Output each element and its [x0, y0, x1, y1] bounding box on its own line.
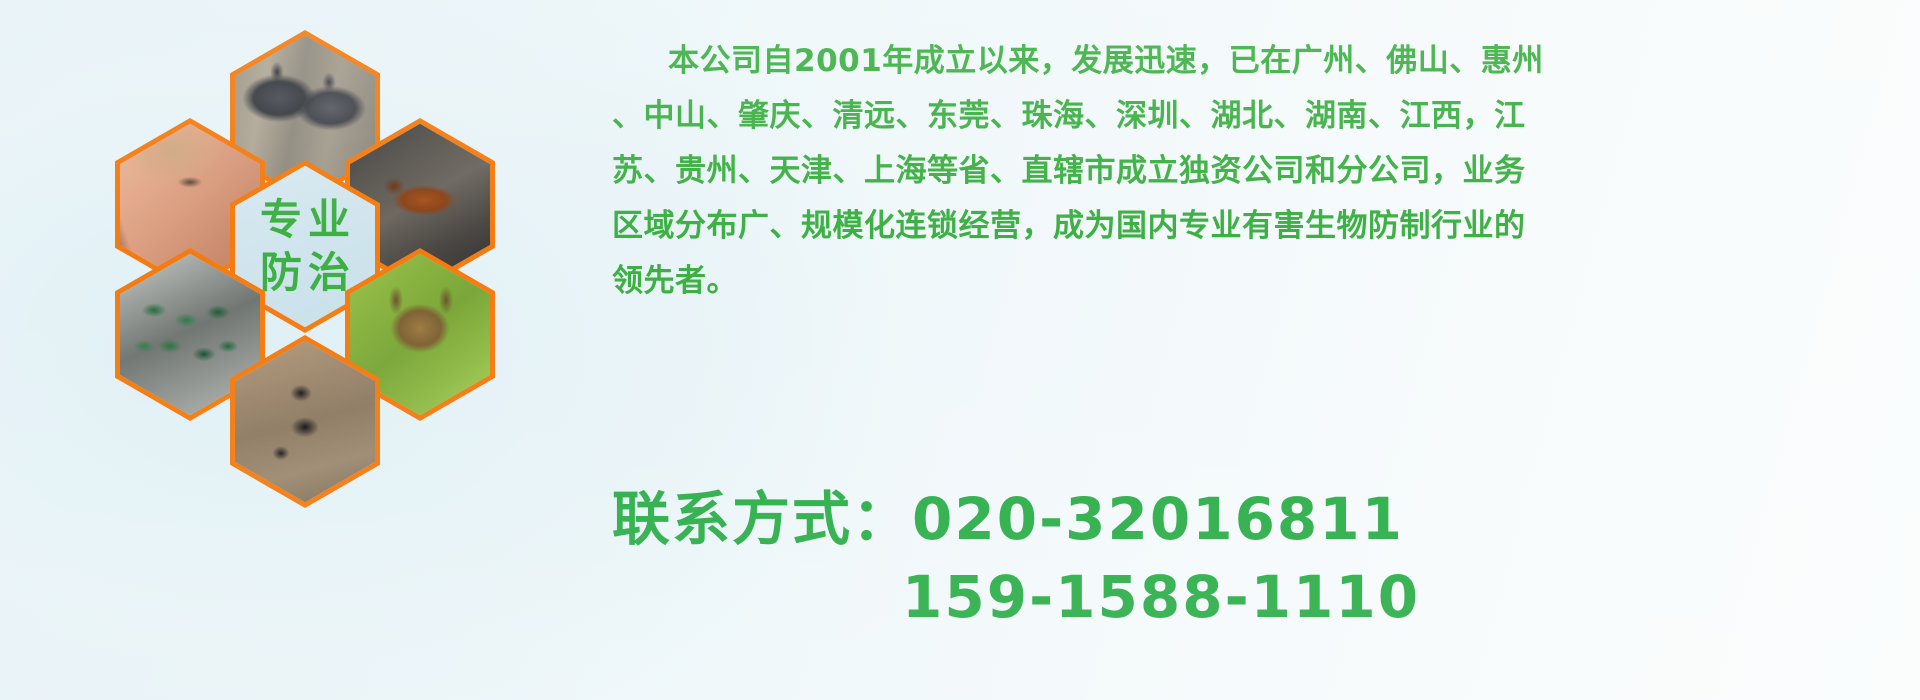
intro-line-3: 苏、贵州、天津、上海等省、直辖市成立独资公司和分公司，业务 — [612, 144, 1902, 199]
brand-line-1: 专业 — [254, 193, 356, 247]
intro-line-4: 区域分布广、规模化连锁经营，成为国内专业有害生物防制行业的 — [612, 199, 1902, 254]
company-intro-paragraph: 本公司自2001年成立以来，发展迅速，已在广州、佛山、惠州 、中山、肇庆、清远、… — [612, 34, 1902, 309]
contact-block: 联系方式：020-32016811 159-1588-1110 — [612, 480, 1902, 636]
ants-photo — [235, 341, 375, 502]
intro-line-1: 本公司自2001年成立以来，发展迅速，已在广州、佛山、惠州 — [612, 34, 1902, 89]
promo-banner: 专业 防治 本公司自2001年成立以来，发展迅速，已在广州、佛山、惠州 、中山、… — [0, 0, 1920, 700]
brand-line-2: 防治 — [254, 246, 356, 300]
contact-phone-primary[interactable]: 联系方式：020-32016811 — [612, 480, 1902, 558]
intro-line-2: 、中山、肇庆、清远、东莞、珠海、深圳、湖北、湖南、江西，江 — [612, 89, 1902, 144]
honeycomb-logo: 专业 防治 — [95, 10, 595, 570]
contact-phone-mobile[interactable]: 159-1588-1110 — [612, 558, 1902, 636]
intro-line-5: 领先者。 — [612, 254, 1902, 309]
